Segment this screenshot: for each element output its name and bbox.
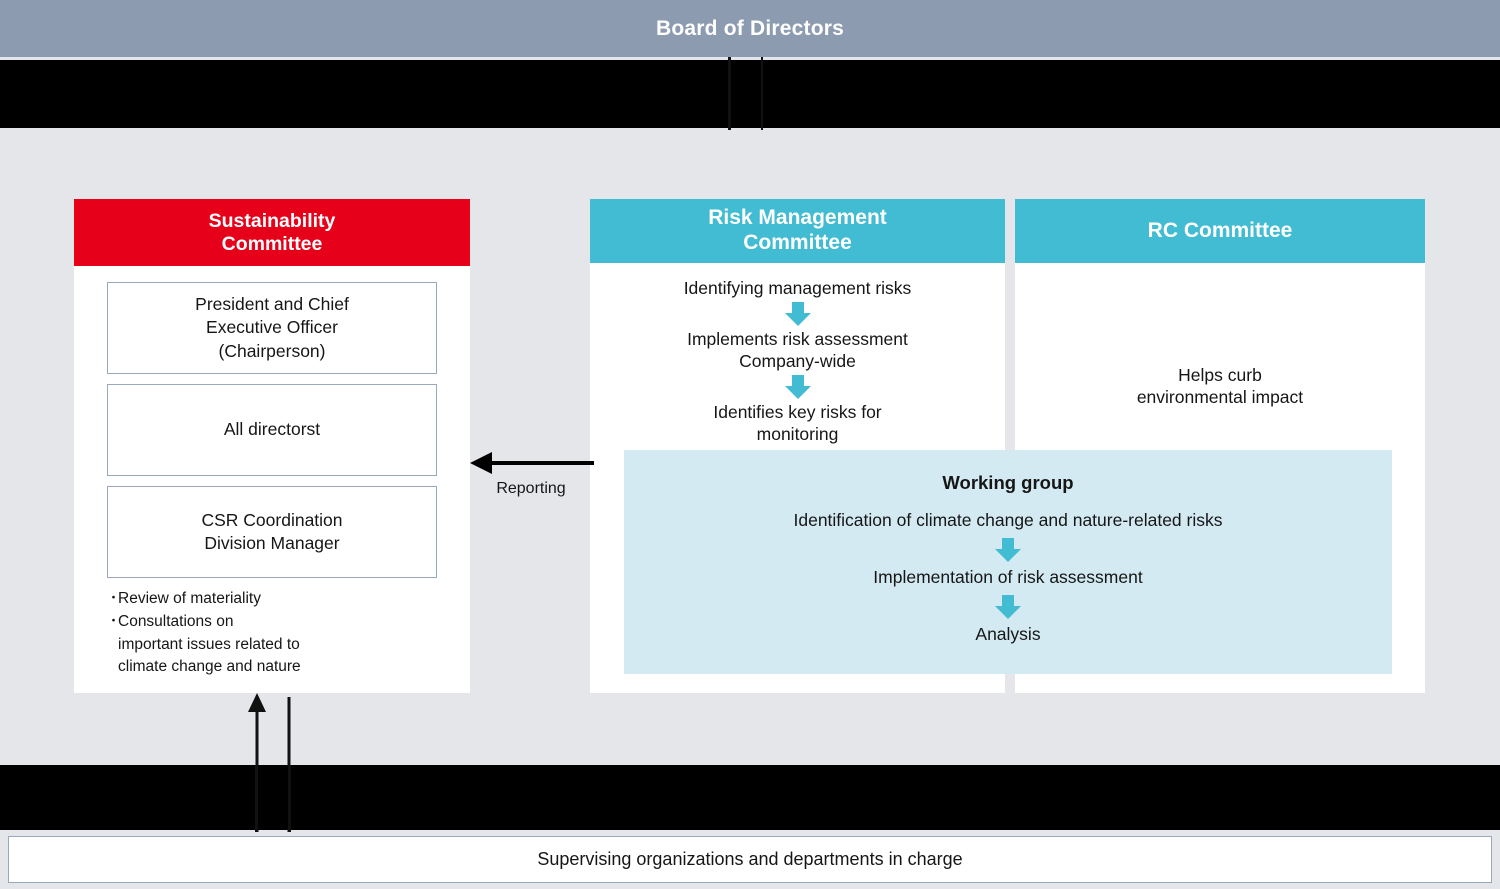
- bullet-marker: [107, 634, 118, 657]
- member-box-all-directors: All directorst: [107, 384, 437, 476]
- rc-body-line2: environmental impact: [1137, 386, 1303, 408]
- working-group-step-2: Implementation of risk assessment: [624, 567, 1392, 588]
- working-group-step-3: Analysis: [624, 624, 1392, 645]
- member-president-line2: Executive Officer: [195, 316, 349, 339]
- connector-line-top-right: [761, 57, 763, 130]
- rmc-step-2-line1: Implements risk assessment: [602, 328, 993, 350]
- rmc-step-1-line1: Identifying management risks: [602, 277, 993, 299]
- rmc-title-line1: Risk Management: [708, 206, 887, 231]
- arrow-down-icon: [784, 374, 812, 400]
- bullet-marker: ・: [107, 611, 118, 634]
- sustainability-committee-title-line1: Sustainability: [209, 210, 336, 233]
- member-president-line1: President and Chief: [195, 293, 349, 316]
- connector-line-bottom-right-overlay: [288, 765, 291, 832]
- supervising-organizations-bar: Supervising organizations and department…: [8, 836, 1492, 883]
- sustainability-committee-card: Sustainability Committee President and C…: [74, 199, 470, 693]
- arrow-down-icon: [994, 537, 1022, 563]
- member-all-directors-line1: All directorst: [224, 418, 320, 441]
- sustainability-committee-title-line2: Committee: [209, 233, 336, 256]
- arrow-left-icon: [466, 450, 596, 476]
- bullet-marker: ・: [107, 588, 118, 611]
- board-of-directors-bar: Board of Directors: [0, 0, 1500, 57]
- working-group-title: Working group: [624, 472, 1392, 494]
- rmc-flow: Identifying management risks Implements …: [590, 263, 1005, 445]
- arrow-down-icon: [994, 594, 1022, 620]
- rmc-step-1: Identifying management risks: [602, 277, 993, 299]
- bullet-text: Review of materiality: [118, 588, 437, 611]
- arrow-down-icon: [784, 301, 812, 327]
- risk-management-committee-header: Risk Management Committee: [590, 199, 1005, 263]
- rmc-step-2-line2: Company-wide: [602, 350, 993, 372]
- bullet-item-continuation: climate change and nature: [107, 656, 437, 679]
- bullet-marker: [107, 656, 118, 679]
- rc-body-line1: Helps curb: [1137, 364, 1303, 386]
- bullet-item-continuation: important issues related to: [107, 634, 437, 657]
- member-csr-line2: Division Manager: [201, 532, 342, 555]
- reporting-label: Reporting: [466, 480, 596, 498]
- bullet-item: ・ Review of materiality: [107, 588, 437, 611]
- sustainability-bullet-list: ・ Review of materiality ・ Consultations …: [107, 588, 437, 679]
- board-of-directors-label: Board of Directors: [656, 17, 844, 41]
- member-csr-line1: CSR Coordination: [201, 509, 342, 532]
- working-group-step-1: Identification of climate change and nat…: [624, 510, 1392, 531]
- bullet-text: Consultations on: [118, 611, 437, 634]
- member-box-csr-manager: CSR Coordination Division Manager: [107, 486, 437, 578]
- supervising-organizations-label: Supervising organizations and department…: [537, 849, 962, 870]
- working-group-panel: Working group Identification of climate …: [624, 450, 1392, 674]
- rmc-title-line2: Committee: [708, 231, 887, 256]
- sustainability-committee-header: Sustainability Committee: [74, 199, 470, 266]
- bullet-text: climate change and nature: [118, 656, 437, 679]
- redacted-band-bottom: [0, 765, 1500, 830]
- connector-line-top-left: [728, 57, 731, 130]
- bullet-item: ・ Consultations on: [107, 611, 437, 634]
- bullet-text: important issues related to: [118, 634, 437, 657]
- reporting-connector: Reporting: [466, 450, 596, 512]
- rmc-step-3: Identifies key risks for monitoring: [602, 401, 993, 445]
- rmc-step-2: Implements risk assessment Company-wide: [602, 328, 993, 372]
- member-box-president: President and Chief Executive Officer (C…: [107, 282, 437, 374]
- connector-line-bottom-left-overlay: [255, 765, 258, 832]
- sustainability-committee-body: President and Chief Executive Officer (C…: [74, 266, 470, 679]
- rc-committee-title: RC Committee: [1148, 219, 1293, 244]
- rmc-step-3-line2: monitoring: [602, 423, 993, 445]
- member-president-line3: (Chairperson): [195, 340, 349, 363]
- org-chart-diagram: Board of Directors Sustainability Commit…: [0, 0, 1500, 889]
- redacted-band-top: [0, 60, 1500, 128]
- rc-committee-header: RC Committee: [1015, 199, 1425, 263]
- rmc-step-3-line1: Identifies key risks for: [602, 401, 993, 423]
